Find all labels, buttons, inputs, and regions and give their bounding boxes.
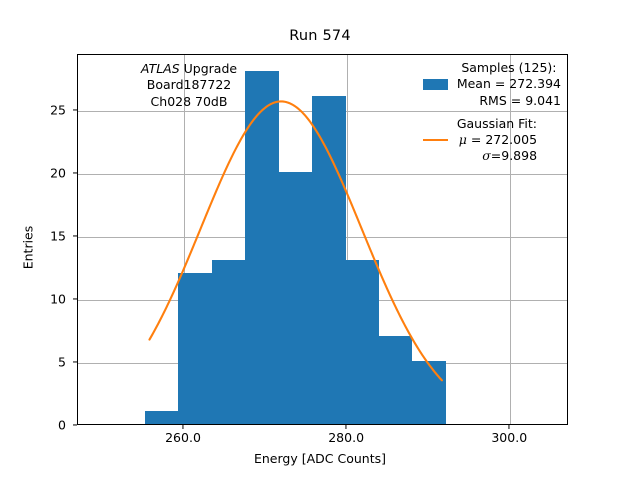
annotation-line-1: ATLAS Upgrade xyxy=(104,61,274,77)
legend-samples-mean: Mean = 272.394 xyxy=(457,76,561,92)
x-tick-mark xyxy=(346,425,347,429)
legend-fit-header: Gaussian Fit: xyxy=(457,116,537,132)
legend-samples-text: Samples (125): Mean = 272.394 RMS = 9.04… xyxy=(457,60,561,109)
mu-symbol: μ xyxy=(459,132,467,147)
y-tick-label: 15 xyxy=(6,228,66,243)
y-tick-mark xyxy=(73,298,77,299)
legend-patch-icon xyxy=(423,79,449,90)
legend-fit-mu: μ = 272.005 xyxy=(457,132,537,148)
y-tick-label: 5 xyxy=(6,354,66,369)
y-axis-label: Entries xyxy=(21,148,36,348)
legend-entry-fit: Gaussian Fit: μ = 272.005 σ=9.898 xyxy=(423,116,561,165)
x-tick-mark xyxy=(509,425,510,429)
legend-fit-sigma: σ=9.898 xyxy=(457,148,537,164)
y-tick-mark xyxy=(73,424,77,425)
legend-entry-samples: Samples (125): Mean = 272.394 RMS = 9.04… xyxy=(423,60,561,109)
x-tick-label: 260.0 xyxy=(143,430,223,445)
y-tick-label: 0 xyxy=(6,418,66,433)
y-tick-mark xyxy=(73,172,77,173)
x-tick-label: 280.0 xyxy=(306,430,386,445)
y-tick-mark xyxy=(73,109,77,110)
legend-fit-text: Gaussian Fit: μ = 272.005 σ=9.898 xyxy=(457,116,537,165)
x-tick-mark xyxy=(182,425,183,429)
sigma-value: =9.898 xyxy=(491,148,537,163)
legend-samples-header: Samples (125): xyxy=(457,60,561,76)
chart-legend: Samples (125): Mean = 272.394 RMS = 9.04… xyxy=(423,60,561,165)
x-tick-label: 300.0 xyxy=(469,430,549,445)
y-tick-label: 20 xyxy=(6,165,66,180)
chart-title: Run 574 xyxy=(0,28,640,44)
x-axis-label: Energy [ADC Counts] xyxy=(0,451,640,466)
sigma-symbol: σ xyxy=(482,148,491,163)
plot-area: ATLAS Upgrade Board187722 Ch028 70dB Sam… xyxy=(77,54,568,425)
legend-samples-rms: RMS = 9.041 xyxy=(457,93,561,109)
y-tick-label: 10 xyxy=(6,291,66,306)
legend-line-icon xyxy=(423,139,449,141)
histogram-figure: Run 574 ATLAS Upgrade Board187722 Ch028 … xyxy=(0,0,640,480)
annotation-line-2: Board187722 xyxy=(104,77,274,93)
mu-value: = 272.005 xyxy=(467,132,537,147)
y-tick-label: 25 xyxy=(6,102,66,117)
y-tick-mark xyxy=(73,361,77,362)
annotation-atlas-label: ATLAS xyxy=(141,61,180,76)
annotation-upgrade-label: Upgrade xyxy=(180,61,237,76)
y-tick-mark xyxy=(73,235,77,236)
atlas-annotation: ATLAS Upgrade Board187722 Ch028 70dB xyxy=(104,61,274,110)
annotation-line-3: Ch028 70dB xyxy=(104,94,274,110)
